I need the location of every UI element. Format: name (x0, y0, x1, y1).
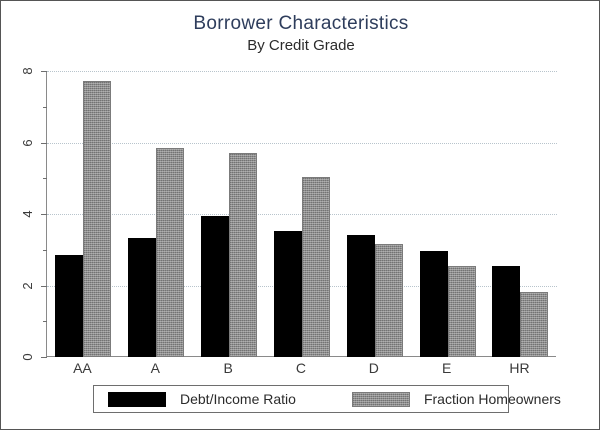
bar-group-e (416, 71, 480, 357)
x-axis-label-aa: AA (50, 359, 114, 379)
bar-a-series-1[interactable] (156, 148, 184, 357)
legend-entry-0[interactable]: Debt/Income Ratio (108, 386, 296, 412)
bar-e-series-0[interactable] (420, 251, 448, 357)
bar-series-container (47, 71, 557, 357)
bar-a-series-0[interactable] (128, 238, 156, 357)
y-axis-label-2: 2 (21, 275, 35, 297)
chart-figure: Borrower Characteristics By Credit Grade… (0, 0, 600, 430)
legend-swatch-1 (352, 392, 410, 407)
y-axis-label-0: 0 (21, 346, 35, 368)
bar-aa-series-1[interactable] (83, 81, 111, 357)
bar-d-series-0[interactable] (347, 235, 375, 357)
bar-d-series-1[interactable] (375, 244, 403, 357)
x-axis-label-d: D (342, 359, 406, 379)
page-title: Borrower Characteristics (1, 13, 600, 35)
x-axis-label-b: B (196, 359, 260, 379)
legend-swatch-0 (108, 392, 166, 407)
bar-c-series-0[interactable] (274, 231, 302, 357)
x-axis-labels: AAABCDEHR (46, 359, 556, 379)
bar-group-aa (51, 71, 115, 357)
plot-area: 02468 (46, 71, 556, 357)
chart-subtitle: By Credit Grade (1, 36, 600, 55)
bar-e-series-1[interactable] (448, 266, 476, 357)
bar-group-c (270, 71, 334, 357)
bar-group-b (197, 71, 261, 357)
title-block: Borrower Characteristics By Credit Grade (1, 13, 600, 55)
bar-hr-series-0[interactable] (492, 266, 520, 357)
y-axis-label-6: 6 (21, 132, 35, 154)
legend-label-1: Fraction Homeowners (424, 391, 561, 407)
bar-b-series-1[interactable] (229, 153, 257, 357)
bar-group-hr (488, 71, 552, 357)
x-axis-label-e: E (415, 359, 479, 379)
bar-group-d (343, 71, 407, 357)
legend-label-0: Debt/Income Ratio (180, 391, 296, 407)
bar-aa-series-0[interactable] (55, 255, 83, 357)
y-axis-label-8: 8 (21, 60, 35, 82)
y-axis-label-4: 4 (21, 203, 35, 225)
legend-entry-1[interactable]: Fraction Homeowners (352, 386, 561, 412)
x-axis-label-a: A (123, 359, 187, 379)
y-tick-0 (41, 357, 47, 358)
bar-group-a (124, 71, 188, 357)
bar-c-series-1[interactable] (302, 177, 330, 357)
x-axis-label-hr: HR (487, 359, 551, 379)
bar-b-series-0[interactable] (201, 216, 229, 357)
bar-hr-series-1[interactable] (520, 292, 548, 357)
chart-legend: Debt/Income RatioFraction Homeowners (93, 385, 509, 413)
x-axis-label-c: C (269, 359, 333, 379)
